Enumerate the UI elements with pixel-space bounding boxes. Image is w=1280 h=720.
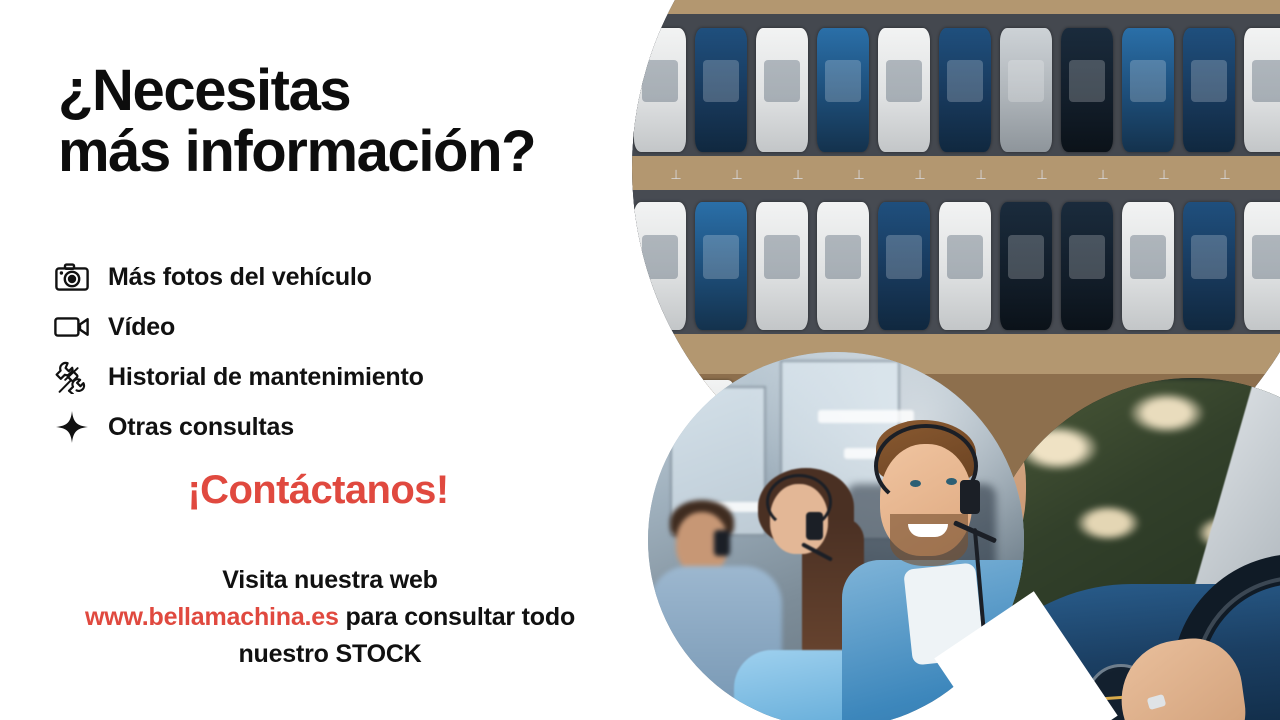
page-title: ¿Necesitas más información?: [58, 60, 535, 183]
footer-line-url: www.bellamachina.es para consultar todo: [0, 599, 660, 636]
content-column: ¿Necesitas más información? Más fotos de…: [0, 0, 680, 720]
footer-line-visit: Visita nuestra web: [0, 562, 660, 599]
website-url[interactable]: www.bellamachina.es: [85, 603, 339, 631]
feature-item-photos: Más fotos del vehículo: [50, 252, 630, 302]
feature-label: Historial de mantenimiento: [108, 363, 424, 392]
aerial-car-park-photo: +++++ +++++ ++ ⊥⊥⊥⊥⊥ ⊥⊥⊥⊥⊥ ⊥⊥: [632, 0, 1280, 518]
feature-item-maintenance: Historial de mantenimiento: [50, 352, 630, 402]
wrench-icon: [50, 357, 94, 397]
footer-line-stock: nuestro STOCK: [0, 636, 660, 673]
call-center-team-photo: [648, 352, 1024, 720]
feature-item-other: Otras consultas: [50, 402, 630, 452]
lot-markers-row: +++++ +++++ ++: [632, 0, 1280, 1]
promo-banner: +++++ +++++ ++ ⊥⊥⊥⊥⊥ ⊥⊥⊥⊥⊥ ⊥⊥: [0, 0, 1280, 720]
feature-label: Otras consultas: [108, 413, 294, 442]
footer-url-suffix: para consultar todo: [339, 603, 575, 631]
feature-item-video: Vídeo: [50, 302, 630, 352]
driving-pov-photo: [982, 378, 1280, 720]
white-separator-wedge: [934, 591, 1117, 720]
video-camera-icon: [50, 307, 94, 347]
cta-contact-text: ¡Contáctanos!: [0, 468, 636, 513]
feature-list: Más fotos del vehículo Vídeo: [50, 252, 630, 452]
camera-icon: [50, 257, 94, 297]
lot-markers-row-lower: ⊥⊥⊥⊥⊥ ⊥⊥⊥⊥⊥ ⊥⊥: [632, 168, 1280, 181]
sparkle-icon: [50, 407, 94, 447]
feature-label: Vídeo: [108, 313, 175, 342]
feature-label: Más fotos del vehículo: [108, 263, 372, 292]
footer-text: Visita nuestra web www.bellamachina.es p…: [0, 562, 660, 673]
